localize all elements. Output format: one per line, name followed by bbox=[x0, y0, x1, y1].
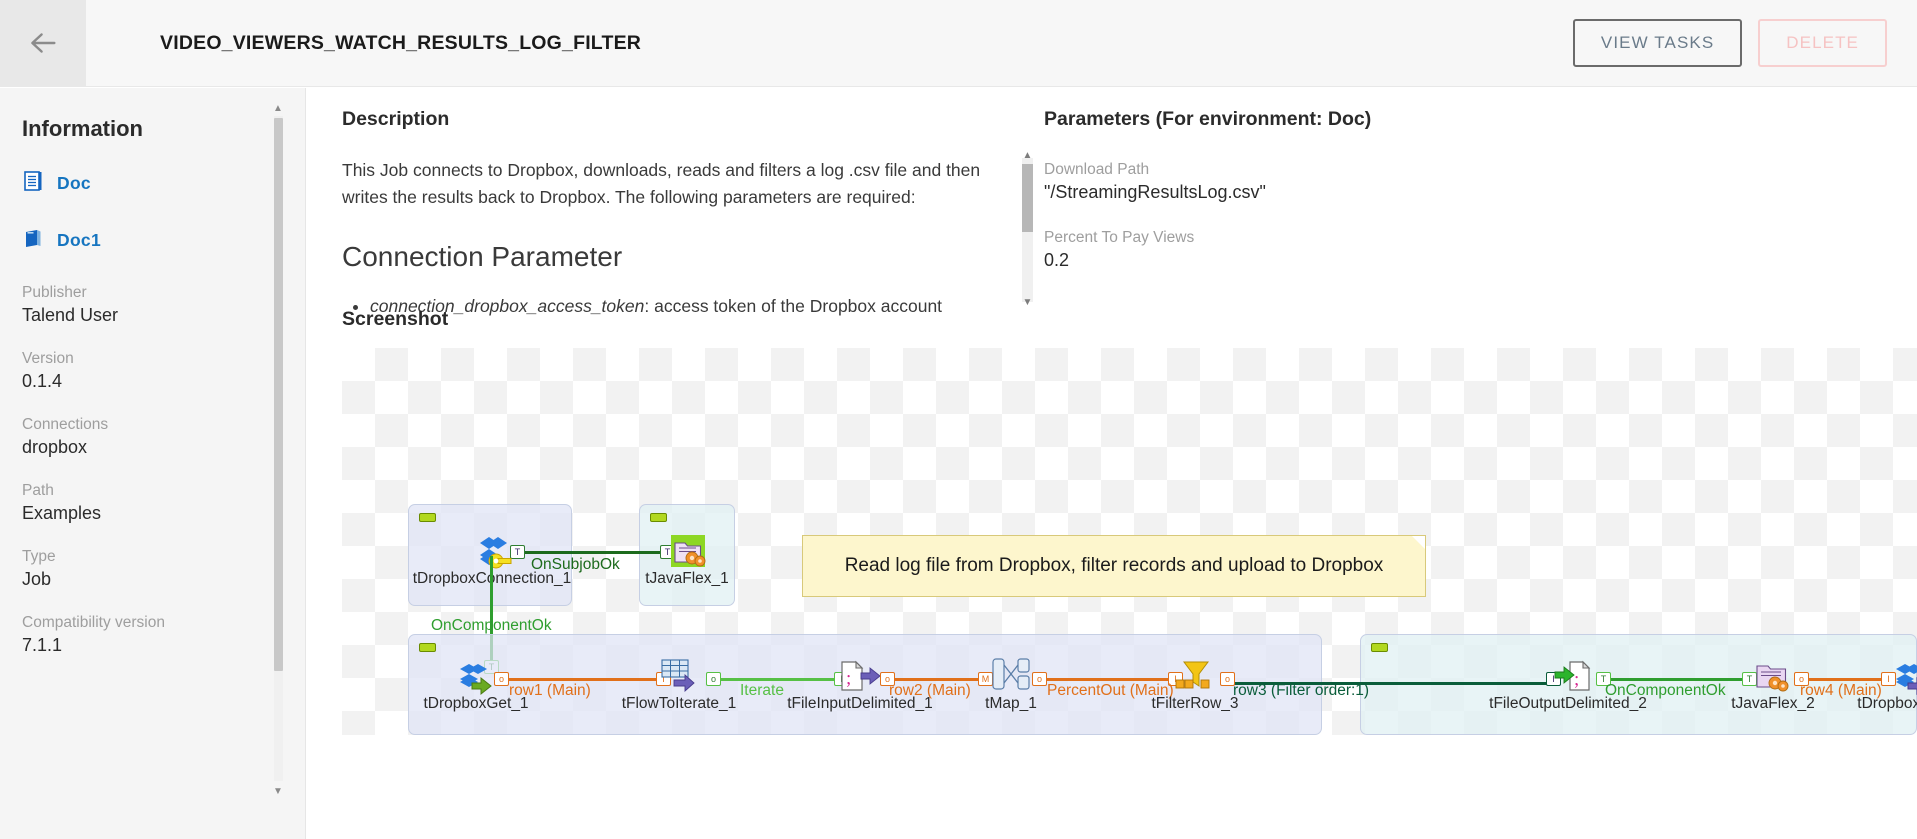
svg-text:;: ; bbox=[846, 668, 851, 689]
top-bar: VIDEO_VIEWERS_WATCH_RESULTS_LOG_FILTER V… bbox=[0, 0, 1917, 87]
svg-text:;: ; bbox=[1574, 669, 1579, 690]
diagram-note: Read log file from Dropbox, filter recor… bbox=[802, 535, 1426, 597]
javaflex-icon bbox=[1754, 659, 1792, 695]
document-lines-icon bbox=[22, 170, 44, 197]
meta-version-label: Version bbox=[22, 350, 250, 368]
sidebar-scroll-up-icon[interactable]: ▲ bbox=[271, 102, 285, 116]
node-tfileoutputdelimited2[interactable]: ; bbox=[1554, 660, 1596, 699]
description-section: Description This Job connects to Dropbox… bbox=[342, 108, 1007, 325]
parameters-section: Parameters (For environment: Doc) Downlo… bbox=[1044, 108, 1544, 297]
diagram-note-text: Read log file from Dropbox, filter recor… bbox=[845, 555, 1384, 577]
meta-publisher: Publisher Talend User bbox=[22, 284, 250, 326]
subjob-status-dot bbox=[419, 643, 436, 652]
link-label-row2: row2 (Main) bbox=[889, 682, 971, 700]
javaflex-icon bbox=[670, 534, 708, 570]
port-row1-out: o bbox=[494, 672, 509, 686]
description-intro: This Job connects to Dropbox, downloads,… bbox=[342, 157, 990, 210]
meta-version: Version 0.1.4 bbox=[22, 350, 250, 392]
dropbox-get-icon bbox=[454, 661, 496, 697]
note-fold-corner bbox=[1412, 536, 1425, 549]
node-tfileinputdelimited1[interactable]: ; bbox=[839, 660, 881, 699]
file-output-icon: ; bbox=[1554, 660, 1596, 694]
meta-compatibility-version-label: Compatibility version bbox=[22, 614, 250, 632]
sidebar-item-doc[interactable]: Doc bbox=[22, 170, 250, 197]
node-tflowtoiterate1[interactable] bbox=[660, 658, 698, 697]
link-label-row3: row3 (Filter order:1) bbox=[1233, 682, 1369, 700]
page-title: VIDEO_VIEWERS_WATCH_RESULTS_LOG_FILTER bbox=[160, 32, 641, 55]
parameter-percent-to-pay-views: Percent To Pay Views 0.2 bbox=[1044, 229, 1544, 271]
sidebar-scroll-down-icon[interactable]: ▼ bbox=[271, 785, 285, 799]
view-tasks-button[interactable]: VIEW TASKS bbox=[1573, 19, 1742, 67]
description-scroll-down-icon[interactable]: ▼ bbox=[1020, 296, 1035, 310]
topbar-actions: VIEW TASKS DELETE bbox=[1573, 19, 1887, 67]
arrow-left-icon bbox=[26, 26, 60, 60]
parameter-percent-to-pay-views-value: 0.2 bbox=[1044, 250, 1544, 271]
wire-oncomponentok-2 bbox=[1602, 678, 1748, 681]
filter-row-icon bbox=[1174, 660, 1216, 692]
parameters-title: Parameters (For environment: Doc) bbox=[1044, 108, 1544, 131]
description-scrollbar-thumb[interactable] bbox=[1022, 164, 1033, 232]
information-sidebar: Information Doc bbox=[0, 88, 306, 839]
description-subheading: Connection Parameter bbox=[342, 236, 990, 279]
meta-version-value: 0.1.4 bbox=[22, 371, 250, 392]
screenshot-title: Screenshot bbox=[342, 308, 448, 331]
parameters-list: Download Path "/StreamingResultsLog.csv"… bbox=[1044, 161, 1544, 271]
job-diagram-canvas: T T OnSubjobOk tDropboxConnection_1 bbox=[342, 348, 1917, 735]
wire-onsubjobok bbox=[514, 551, 666, 554]
sidebar-scrollbar-thumb[interactable] bbox=[274, 118, 283, 671]
sidebar-item-doc1-label: Doc1 bbox=[57, 230, 101, 251]
parameter-percent-to-pay-views-label: Percent To Pay Views bbox=[1044, 229, 1544, 247]
wire-percentout bbox=[1038, 678, 1174, 681]
subjob-status-dot bbox=[650, 513, 667, 522]
description-bullet-text: : access token of the Dropbox account bbox=[644, 296, 942, 316]
link-label-oncomponentok-1: OnComponentOk bbox=[431, 617, 552, 635]
link-label-oncomponentok-2: OnComponentOk bbox=[1605, 682, 1726, 700]
meta-publisher-label: Publisher bbox=[22, 284, 250, 302]
main-content: Description This Job connects to Dropbox… bbox=[307, 88, 1917, 839]
wire-row1 bbox=[502, 678, 662, 681]
meta-connections-value: dropbox bbox=[22, 437, 250, 458]
sidebar-heading: Information bbox=[22, 116, 250, 142]
subjob-status-dot bbox=[419, 513, 436, 522]
description-scroll-up-icon[interactable]: ▲ bbox=[1020, 149, 1035, 163]
dropbox-put-icon bbox=[1890, 661, 1917, 697]
meta-compatibility-version-value: 7.1.1 bbox=[22, 635, 250, 656]
book-icon bbox=[22, 227, 44, 254]
node-tjavaflex1[interactable] bbox=[670, 534, 708, 575]
port-iterate-out: o bbox=[706, 672, 721, 686]
meta-compatibility-version: Compatibility version 7.1.1 bbox=[22, 614, 250, 656]
meta-publisher-value: Talend User bbox=[22, 305, 250, 326]
back-button[interactable] bbox=[0, 0, 86, 87]
sidebar-item-doc-label: Doc bbox=[57, 173, 91, 194]
description-scroll-area[interactable]: This Job connects to Dropbox, downloads,… bbox=[342, 157, 990, 325]
wire-iterate bbox=[712, 678, 840, 681]
description-bullet: connection_dropbox_access_token: access … bbox=[370, 293, 990, 320]
parameter-download-path-label: Download Path bbox=[1044, 161, 1544, 179]
node-label-tdropboxget1: tDropboxGet_1 bbox=[408, 695, 544, 713]
tmap-icon bbox=[990, 655, 1032, 697]
port-percentout-out: o bbox=[1032, 672, 1047, 686]
parameter-download-path-value: "/StreamingResultsLog.csv" bbox=[1044, 182, 1544, 203]
description-title: Description bbox=[342, 108, 1007, 131]
meta-path-label: Path bbox=[22, 482, 250, 500]
subjob-status-dot bbox=[1371, 643, 1388, 652]
node-tfilterrow3[interactable] bbox=[1174, 660, 1216, 697]
meta-connections: Connections dropbox bbox=[22, 416, 250, 458]
meta-type-value: Job bbox=[22, 569, 250, 590]
parameter-download-path: Download Path "/StreamingResultsLog.csv" bbox=[1044, 161, 1544, 203]
node-label-tflowtoiterate1: tFlowToIterate_1 bbox=[610, 695, 748, 713]
sidebar-item-doc1[interactable]: Doc1 bbox=[22, 227, 250, 254]
link-label-iterate: Iterate bbox=[740, 682, 784, 700]
delete-button: DELETE bbox=[1758, 19, 1887, 67]
wire-row2 bbox=[887, 678, 983, 681]
meta-type-label: Type bbox=[22, 548, 250, 566]
node-label-tjavaflex1: tJavaFlex_1 bbox=[639, 570, 735, 588]
meta-type: Type Job bbox=[22, 548, 250, 590]
file-input-icon: ; bbox=[839, 660, 881, 694]
wire-row4 bbox=[1800, 678, 1886, 681]
node-label-tmap1: tMap_1 bbox=[963, 695, 1059, 713]
meta-path-value: Examples bbox=[22, 503, 250, 524]
meta-path: Path Examples bbox=[22, 482, 250, 524]
flow-to-iterate-icon bbox=[660, 658, 698, 692]
meta-connections-label: Connections bbox=[22, 416, 250, 434]
node-label-tdropboxput1: tDropboxPut_1 bbox=[1834, 695, 1917, 713]
node-tjavaflex2[interactable] bbox=[1754, 659, 1792, 700]
